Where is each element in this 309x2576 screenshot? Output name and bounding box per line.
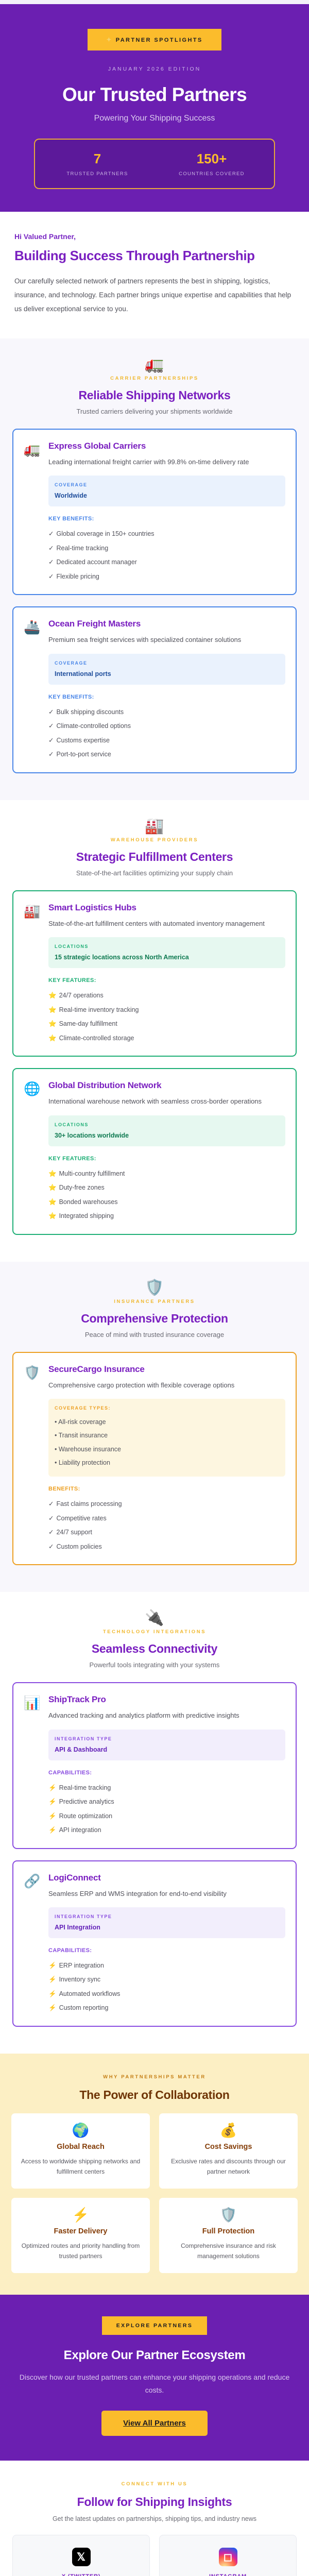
benefit-name: Global Reach	[19, 2143, 143, 2151]
partner-feature-item: ✓Dedicated account manager	[48, 555, 285, 570]
intro-heading: Building Success Through Partnership	[14, 248, 295, 264]
partner-meta-label: COVERAGE TYPES:	[55, 1405, 279, 1411]
partner-meta-list-item: • Liability protection	[55, 1456, 279, 1469]
partner-description: Comprehensive cargo protection with flex…	[48, 1380, 285, 1391]
feature-marker-icon: ⭐	[48, 1035, 57, 1042]
hero-stats: 7 TRUSTED PARTNERS 150+ COUNTRIES COVERE…	[34, 139, 275, 189]
partner-meta-list-item: • Warehouse insurance	[55, 1443, 279, 1456]
social-eyebrow: CONNECT WITH US	[12, 2481, 297, 2487]
section-subtitle: State-of-the-art facilities optimizing y…	[12, 869, 297, 877]
partner-meta-label: INTEGRATION TYPE	[55, 1914, 279, 1919]
feature-marker-icon: ⚡	[48, 1990, 57, 1997]
partner-feature-item: ⚡Custom reporting	[48, 2001, 285, 2015]
partner-feature-item: ✓Real-time tracking	[48, 541, 285, 556]
globe-icon: 🌍	[19, 2124, 143, 2138]
partner-feature-item: ✓Customs expertise	[48, 734, 285, 748]
partner-meta-list-item: • Transit insurance	[55, 1429, 279, 1442]
partner-feature-item: ⭐Climate-controlled storage	[48, 1031, 285, 1046]
partner-features-label: CAPABILITIES:	[48, 1947, 285, 1954]
partner-name: Smart Logistics Hubs	[48, 903, 285, 913]
partner-feature-item: ⭐Same-day fulfillment	[48, 1017, 285, 1031]
section-eyebrow: INSURANCE PARTNERS	[12, 1299, 297, 1304]
benefit-name: Full Protection	[166, 2227, 290, 2235]
partner-meta-box: COVERAGE TYPES:• All-risk coverage• Tran…	[48, 1399, 285, 1477]
feature-marker-icon: ⭐	[48, 1170, 57, 1177]
feature-marker-icon: ✓	[48, 722, 54, 730]
partner-meta-box: LOCATIONS15 strategic locations across N…	[48, 937, 285, 968]
partner-logo-icon: 🚢	[24, 619, 41, 761]
section-subtitle: Powerful tools integrating with your sys…	[12, 1661, 297, 1669]
partner-section: 🏭WAREHOUSE PROVIDERSStrategic Fulfillmen…	[0, 800, 309, 1262]
partner-section: 🚛CARRIER PARTNERSHIPSReliable Shipping N…	[0, 338, 309, 800]
instagram-icon: ◻	[219, 2548, 237, 2566]
shield-icon: 🛡️	[166, 2208, 290, 2222]
partner-card[interactable]: 📊ShipTrack ProAdvanced tracking and anal…	[12, 1682, 297, 1849]
partner-name: Express Global Carriers	[48, 441, 285, 451]
partner-description: Leading international freight carrier wi…	[48, 456, 285, 467]
partner-feature-item: ⭐Integrated shipping	[48, 1209, 285, 1224]
partner-feature-item: ⚡API integration	[48, 1823, 285, 1838]
partner-logo-icon: 🚛	[24, 441, 41, 584]
partner-feature-item: ⭐24/7 operations	[48, 989, 285, 1003]
partner-features-list: ⭐24/7 operations⭐Real-time inventory tra…	[48, 989, 285, 1045]
benefits-section: WHY PARTNERSHIPS MATTER The Power of Col…	[0, 2054, 309, 2295]
feature-marker-icon: ⚡	[48, 1784, 57, 1791]
partner-feature-item: ⚡Automated workflows	[48, 1987, 285, 2002]
feature-marker-icon: ⭐	[48, 1020, 57, 1027]
partner-meta-list: • All-risk coverage• Transit insurance• …	[55, 1415, 279, 1469]
partner-card[interactable]: 🚛Express Global CarriersLeading internat…	[12, 429, 297, 595]
partner-feature-item: ✓Port-to-port service	[48, 748, 285, 762]
partner-logo-icon: 🔗	[24, 1873, 41, 2015]
feature-marker-icon: ⚡	[48, 1798, 57, 1805]
partner-feature-item: ✓24/7 support	[48, 1526, 285, 1540]
stat-value: 7	[40, 151, 154, 167]
partner-logo-icon: 🛡️	[24, 1364, 41, 1554]
partner-feature-item: ⭐Duty-free zones	[48, 1181, 285, 1195]
section-emoji-icon: 🔌	[12, 1611, 297, 1626]
partner-description: International warehouse network with sea…	[48, 1096, 285, 1107]
partner-features-list: ⭐Multi-country fulfillment⭐Duty-free zon…	[48, 1167, 285, 1224]
sparkle-icon: ✦	[106, 36, 112, 43]
section-header: 🔌TECHNOLOGY INTEGRATIONSSeamless Connect…	[12, 1611, 297, 1669]
lightning-icon: ⚡	[19, 2208, 143, 2222]
partner-feature-item: ⚡Predictive analytics	[48, 1795, 285, 1809]
partner-name: SecureCargo Insurance	[48, 1364, 285, 1375]
partner-card[interactable]: 🌐Global Distribution NetworkInternationa…	[12, 1068, 297, 1234]
feature-marker-icon: ✓	[48, 1529, 54, 1536]
partner-feature-item: ⚡ERP integration	[48, 1959, 285, 1973]
partner-card-body: Ocean Freight MastersPremium sea freight…	[48, 619, 285, 761]
partner-name: ShipTrack Pro	[48, 1694, 285, 1705]
partner-features-list: ✓Fast claims processing✓Competitive rate…	[48, 1497, 285, 1554]
benefits-eyebrow: WHY PARTNERSHIPS MATTER	[11, 2074, 298, 2080]
view-all-partners-button[interactable]: View All Partners	[101, 2411, 208, 2436]
partner-features-label: CAPABILITIES:	[48, 1770, 285, 1776]
benefit-card: 🌍Global ReachAccess to worldwide shippin…	[11, 2113, 150, 2189]
partner-meta-value: 30+ locations worldwide	[55, 1132, 279, 1139]
intro-section: Hi Valued Partner, Building Success Thro…	[0, 212, 309, 338]
partner-meta-value: 15 strategic locations across North Amer…	[55, 954, 279, 961]
benefit-description: Optimized routes and priority handling f…	[19, 2241, 143, 2262]
section-eyebrow: WAREHOUSE PROVIDERS	[12, 837, 297, 843]
partner-features-label: KEY BENEFITS:	[48, 694, 285, 700]
partner-meta-box: COVERAGEInternational ports	[48, 654, 285, 685]
greeting-text: Hi Valued Partner,	[14, 232, 295, 241]
hero-subtitle: Powering Your Shipping Success	[12, 114, 297, 123]
stat-label: COUNTRIES COVERED	[154, 171, 269, 177]
feature-marker-icon: ✓	[48, 1515, 54, 1522]
benefits-title: The Power of Collaboration	[11, 2088, 298, 2102]
partner-meta-value: API Integration	[55, 1924, 279, 1931]
partner-card-body: LogiConnectSeamless ERP and WMS integrat…	[48, 1873, 285, 2015]
partner-description: Advanced tracking and analytics platform…	[48, 1710, 285, 1721]
partner-description: Seamless ERP and WMS integration for end…	[48, 1888, 285, 1899]
cta-description: Discover how our trusted partners can en…	[15, 2371, 294, 2398]
benefit-description: Comprehensive insurance and risk managem…	[166, 2241, 290, 2262]
partner-feature-item: ⭐Real-time inventory tracking	[48, 1003, 285, 1018]
partner-spotlights-badge: ✦PARTNER SPOTLIGHTS	[88, 29, 221, 50]
partner-features-list: ✓Bulk shipping discounts✓Climate-control…	[48, 705, 285, 762]
social-card-x-twitter[interactable]: 𝕏X (TWITTER)	[12, 2535, 150, 2576]
partner-card-body: ShipTrack ProAdvanced tracking and analy…	[48, 1694, 285, 1837]
partner-section: 🔌TECHNOLOGY INTEGRATIONSSeamless Connect…	[0, 1592, 309, 2054]
badge-label: PARTNER SPOTLIGHTS	[116, 37, 203, 43]
social-section: CONNECT WITH US Follow for Shipping Insi…	[0, 2461, 309, 2576]
partner-name: Global Distribution Network	[48, 1080, 285, 1091]
hero-section: ✦PARTNER SPOTLIGHTS JANUARY 2026 EDITION…	[0, 4, 309, 212]
cta-section: EXPLORE PARTNERS Explore Our Partner Eco…	[0, 2295, 309, 2461]
partner-section: 🛡️INSURANCE PARTNERSComprehensive Protec…	[0, 1262, 309, 1592]
feature-marker-icon: ⚡	[48, 1962, 57, 1969]
x-twitter-icon: 𝕏	[72, 2548, 91, 2566]
benefit-name: Cost Savings	[166, 2143, 290, 2151]
partner-meta-box: LOCATIONS30+ locations worldwide	[48, 1115, 285, 1146]
feature-marker-icon: ✓	[48, 751, 54, 758]
partner-description: Premium sea freight services with specia…	[48, 634, 285, 645]
feature-marker-icon: ✓	[48, 573, 54, 580]
partner-feature-item: ✓Competitive rates	[48, 1512, 285, 1526]
partner-meta-list-item: • All-risk coverage	[55, 1415, 279, 1429]
partner-description: State-of-the-art fulfillment centers wit…	[48, 918, 285, 929]
partner-feature-item: ✓Fast claims processing	[48, 1497, 285, 1512]
partner-card[interactable]: 🚢Ocean Freight MastersPremium sea freigh…	[12, 606, 297, 773]
stat-value: 150+	[154, 151, 269, 167]
section-subtitle: Peace of mind with trusted insurance cov…	[12, 1331, 297, 1338]
partner-meta-box: INTEGRATION TYPEAPI & Dashboard	[48, 1730, 285, 1760]
partner-feature-item: ✓Bulk shipping discounts	[48, 705, 285, 720]
section-header: 🛡️INSURANCE PARTNERSComprehensive Protec…	[12, 1280, 297, 1338]
feature-marker-icon: ✓	[48, 530, 54, 537]
section-title: Comprehensive Protection	[12, 1312, 297, 1326]
feature-marker-icon: ✓	[48, 558, 54, 566]
partner-meta-label: LOCATIONS	[55, 944, 279, 949]
social-label: INSTAGRAM	[165, 2573, 291, 2576]
feature-marker-icon: ⭐	[48, 1006, 57, 1013]
partner-meta-value: Worldwide	[55, 492, 279, 499]
feature-marker-icon: ⚡	[48, 1826, 57, 1834]
feature-marker-icon: ✓	[48, 545, 54, 552]
partner-logo-icon: 📊	[24, 1694, 41, 1837]
benefit-card: ⚡Faster DeliveryOptimized routes and pri…	[11, 2198, 150, 2273]
section-subtitle: Trusted carriers delivering your shipmen…	[12, 408, 297, 415]
partner-meta-value: API & Dashboard	[55, 1746, 279, 1753]
benefit-name: Faster Delivery	[19, 2227, 143, 2235]
feature-marker-icon: ⭐	[48, 1198, 57, 1206]
email-page: ✦PARTNER SPOTLIGHTS JANUARY 2026 EDITION…	[0, 4, 309, 2576]
section-emoji-icon: 🏭	[12, 819, 297, 834]
partner-features-label: KEY BENEFITS:	[48, 516, 285, 522]
section-emoji-icon: 🛡️	[12, 1280, 297, 1296]
partner-name: LogiConnect	[48, 1873, 285, 1883]
partner-card[interactable]: 🔗LogiConnectSeamless ERP and WMS integra…	[12, 1860, 297, 2027]
partner-feature-item: ⚡Real-time tracking	[48, 1781, 285, 1795]
partner-feature-item: ⚡Inventory sync	[48, 1973, 285, 1987]
partner-feature-item: ✓Climate-controlled options	[48, 719, 285, 734]
partner-card[interactable]: 🏭Smart Logistics HubsState-of-the-art fu…	[12, 890, 297, 1057]
feature-marker-icon: ✓	[48, 1500, 54, 1507]
stat-countries-covered: 150+ COUNTRIES COVERED	[154, 151, 269, 177]
partner-feature-item: ⭐Multi-country fulfillment	[48, 1167, 285, 1181]
social-card-instagram[interactable]: ◻INSTAGRAM	[159, 2535, 297, 2576]
partner-feature-item: ✓Custom policies	[48, 1540, 285, 1554]
partner-features-label: KEY FEATURES:	[48, 1156, 285, 1162]
partner-card[interactable]: 🛡️SecureCargo InsuranceComprehensive car…	[12, 1352, 297, 1565]
explore-partners-pill[interactable]: EXPLORE PARTNERS	[102, 2316, 207, 2335]
feature-marker-icon: ✓	[48, 737, 54, 744]
partner-meta-label: COVERAGE	[55, 660, 279, 666]
feature-marker-icon: ✓	[48, 708, 54, 716]
partner-logo-icon: 🌐	[24, 1080, 41, 1223]
edition-label: JANUARY 2026 EDITION	[12, 66, 297, 72]
feature-marker-icon: ⭐	[48, 1184, 57, 1191]
intro-body: Our carefully selected network of partne…	[14, 274, 295, 316]
section-header: 🚛CARRIER PARTNERSHIPSReliable Shipping N…	[12, 357, 297, 415]
partner-meta-label: LOCATIONS	[55, 1122, 279, 1127]
partner-features-list: ⚡ERP integration⚡Inventory sync⚡Automate…	[48, 1959, 285, 2015]
feature-marker-icon: ✓	[48, 1543, 54, 1550]
partner-card-body: Smart Logistics HubsState-of-the-art ful…	[48, 903, 285, 1045]
feature-marker-icon: ⚡	[48, 1812, 57, 1820]
benefit-description: Access to worldwide shipping networks an…	[19, 2156, 143, 2177]
partner-features-list: ✓Global coverage in 150+ countries✓Real-…	[48, 527, 285, 584]
partner-features-label: KEY FEATURES:	[48, 977, 285, 984]
benefit-card: 💰Cost SavingsExclusive rates and discoun…	[159, 2113, 298, 2189]
partner-feature-item: ⭐Bonded warehouses	[48, 1195, 285, 1210]
section-emoji-icon: 🚛	[12, 357, 297, 372]
partner-meta-box: INTEGRATION TYPEAPI Integration	[48, 1907, 285, 1938]
partner-card-body: SecureCargo InsuranceComprehensive cargo…	[48, 1364, 285, 1554]
partner-logo-icon: 🏭	[24, 903, 41, 1045]
money-bag-icon: 💰	[166, 2124, 290, 2138]
partner-card-body: Express Global CarriersLeading internati…	[48, 441, 285, 584]
cta-title: Explore Our Partner Ecosystem	[15, 2348, 294, 2363]
feature-marker-icon: ⚡	[48, 2004, 57, 2011]
section-title: Strategic Fulfillment Centers	[12, 850, 297, 864]
feature-marker-icon: ⭐	[48, 1212, 57, 1219]
section-title: Reliable Shipping Networks	[12, 388, 297, 402]
partner-feature-item: ✓Global coverage in 150+ countries	[48, 527, 285, 541]
partner-feature-item: ⚡Route optimization	[48, 1809, 285, 1824]
partner-features-list: ⚡Real-time tracking⚡Predictive analytics…	[48, 1781, 285, 1838]
partner-features-label: BENEFITS:	[48, 1486, 285, 1492]
benefit-description: Exclusive rates and discounts through ou…	[166, 2156, 290, 2177]
feature-marker-icon: ⚡	[48, 1976, 57, 1983]
benefit-card: 🛡️Full ProtectionComprehensive insurance…	[159, 2198, 298, 2273]
stat-trusted-partners: 7 TRUSTED PARTNERS	[40, 151, 154, 177]
feature-marker-icon: ⭐	[48, 992, 57, 999]
section-eyebrow: CARRIER PARTNERSHIPS	[12, 376, 297, 381]
social-label: X (TWITTER)	[18, 2573, 144, 2576]
partner-name: Ocean Freight Masters	[48, 619, 285, 629]
partner-meta-label: INTEGRATION TYPE	[55, 1736, 279, 1741]
hero-title: Our Trusted Partners	[12, 84, 297, 106]
benefits-grid: 🌍Global ReachAccess to worldwide shippin…	[11, 2113, 298, 2273]
section-eyebrow: TECHNOLOGY INTEGRATIONS	[12, 1629, 297, 1635]
partner-feature-item: ✓Flexible pricing	[48, 570, 285, 584]
social-grid: 𝕏X (TWITTER)◻INSTAGRAM♪TIKTOKinLINKEDIN	[12, 2535, 297, 2576]
page-top-gutter	[0, 0, 309, 4]
social-subtitle: Get the latest updates on partnerships, …	[12, 2515, 297, 2522]
partner-meta-box: COVERAGEWorldwide	[48, 476, 285, 506]
section-header: 🏭WAREHOUSE PROVIDERSStrategic Fulfillmen…	[12, 819, 297, 877]
social-title: Follow for Shipping Insights	[12, 2495, 297, 2509]
partner-sections: 🚛CARRIER PARTNERSHIPSReliable Shipping N…	[0, 338, 309, 2054]
section-title: Seamless Connectivity	[12, 1642, 297, 1656]
partner-card-body: Global Distribution NetworkInternational…	[48, 1080, 285, 1223]
partner-meta-value: International ports	[55, 670, 279, 677]
stat-label: TRUSTED PARTNERS	[40, 171, 154, 177]
partner-meta-label: COVERAGE	[55, 482, 279, 487]
